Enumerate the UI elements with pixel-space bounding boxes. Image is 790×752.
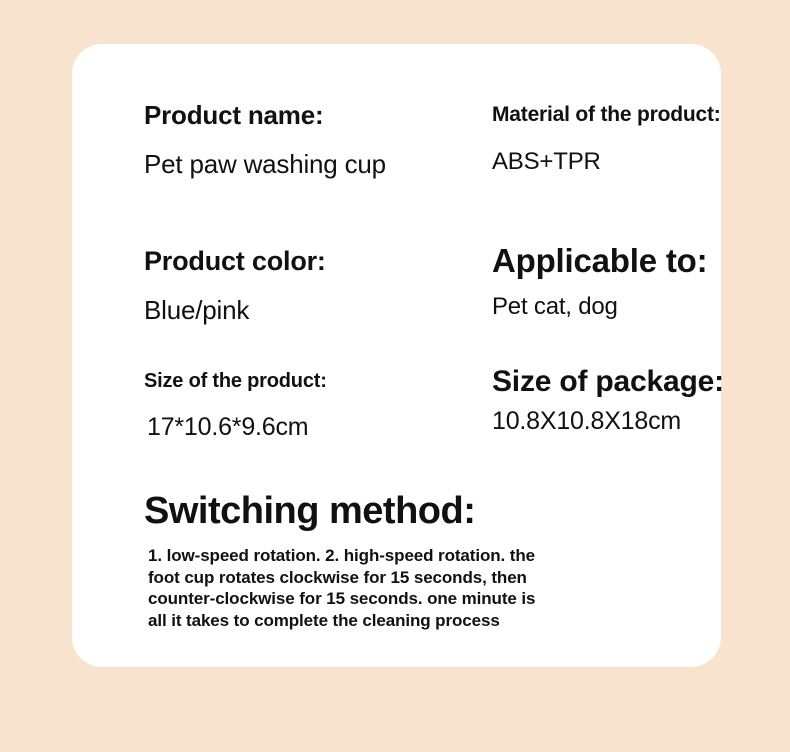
field-product-name-label: Product name: xyxy=(144,100,386,130)
field-size-of-product: Size of the product: 17*10.6*9.6cm xyxy=(144,370,327,442)
switching-method-line: all it takes to complete the cleaning pr… xyxy=(148,610,535,632)
switching-method-body: 1. low-speed rotation. 2. high-speed rot… xyxy=(144,545,535,631)
switching-method-line: foot cup rotates clockwise for 15 second… xyxy=(148,567,535,589)
switching-method-heading: Switching method: xyxy=(144,489,535,533)
field-product-color-label: Product color: xyxy=(144,246,326,277)
field-material: Material of the product: ABS+TPR xyxy=(492,103,721,176)
switching-method-line: 1. low-speed rotation. 2. high-speed rot… xyxy=(148,545,535,567)
field-product-color-value: Blue/pink xyxy=(144,295,326,325)
field-size-of-package-value: 10.8X10.8X18cm xyxy=(492,407,724,436)
field-applicable-to-value: Pet cat, dog xyxy=(492,293,707,321)
field-product-color: Product color: Blue/pink xyxy=(144,246,326,325)
field-material-label: Material of the product: xyxy=(492,103,721,127)
field-size-of-product-value: 17*10.6*9.6cm xyxy=(144,413,327,442)
field-size-of-package-label: Size of package: xyxy=(492,364,724,399)
field-product-name: Product name: Pet paw washing cup xyxy=(144,100,386,179)
field-applicable-to: Applicable to: Pet cat, dog xyxy=(492,242,707,321)
field-material-value: ABS+TPR xyxy=(492,148,721,176)
product-spec-card: Product name: Pet paw washing cup Materi… xyxy=(72,44,721,667)
field-product-name-value: Pet paw washing cup xyxy=(144,149,386,179)
switching-method-line: counter-clockwise for 15 seconds. one mi… xyxy=(148,588,535,610)
field-size-of-product-label: Size of the product: xyxy=(144,370,327,393)
switching-method-section: Switching method: 1. low-speed rotation.… xyxy=(144,489,535,631)
field-size-of-package: Size of package: 10.8X10.8X18cm xyxy=(492,364,724,436)
field-applicable-to-label: Applicable to: xyxy=(492,242,707,280)
